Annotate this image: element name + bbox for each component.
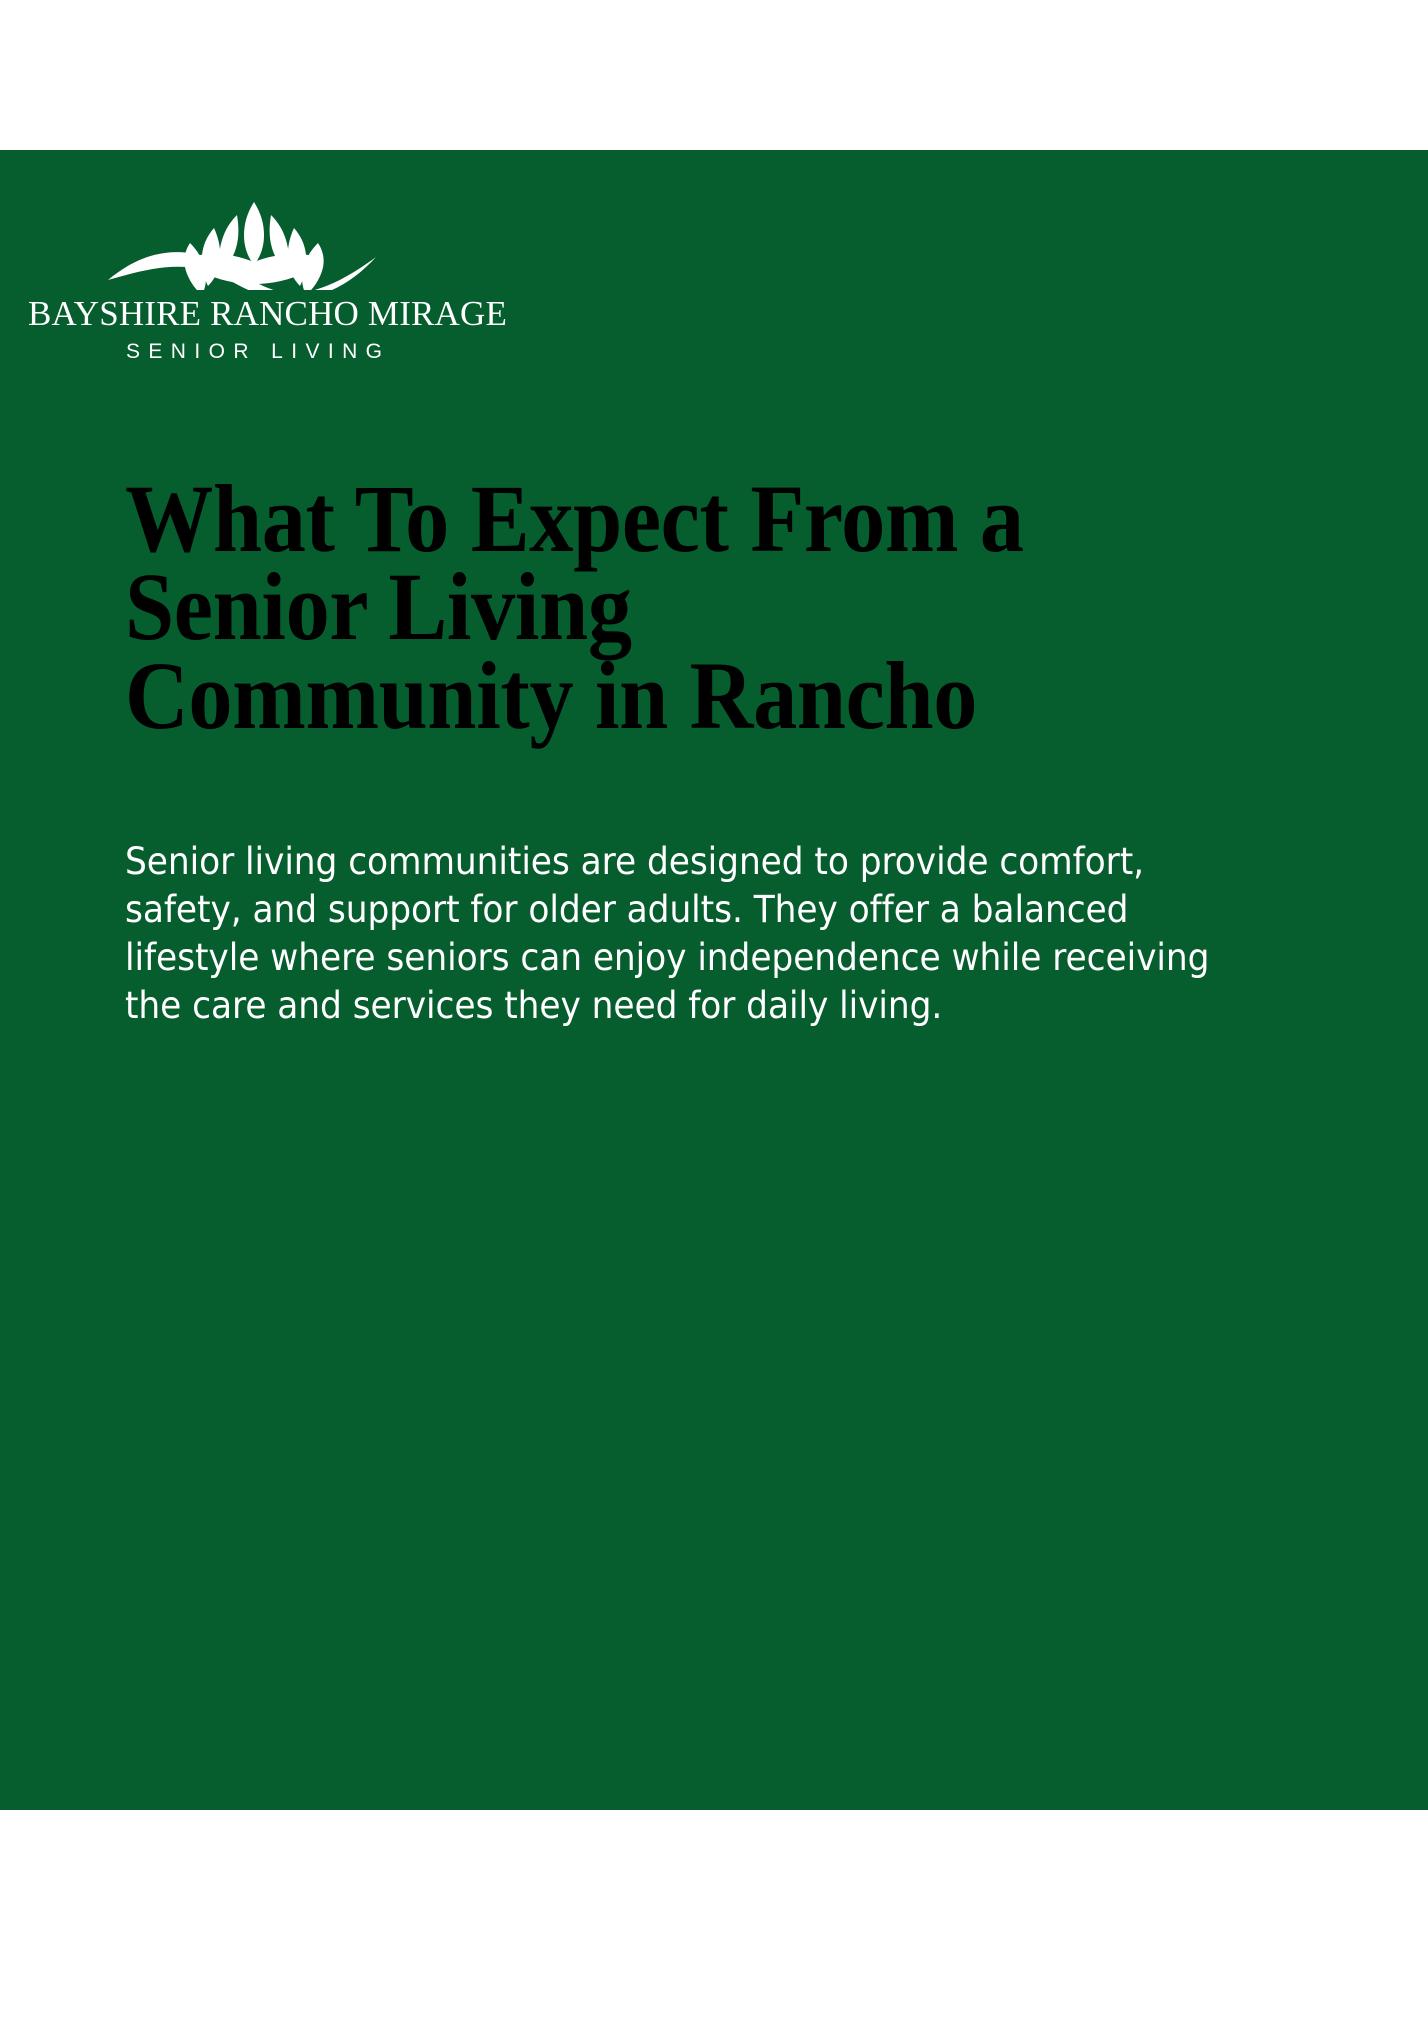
page-canvas: BAYSHIRE RANCHO MIRAGE SENIOR LIVING Wha… [0, 0, 1428, 2018]
lotus-flower-with-wave-icon [104, 198, 404, 290]
brand-wordmark: BAYSHIRE RANCHO MIRAGE [28, 296, 480, 332]
hero-heading: What To Expect From a Senior Living Comm… [125, 475, 1413, 740]
brand-subwordmark: SENIOR LIVING [28, 341, 480, 362]
hero-panel: BAYSHIRE RANCHO MIRAGE SENIOR LIVING Wha… [0, 150, 1428, 1810]
brand-logo-lockup[interactable]: BAYSHIRE RANCHO MIRAGE SENIOR LIVING [28, 198, 480, 362]
hero-body-paragraph: Senior living communities are designed t… [125, 838, 1428, 1030]
